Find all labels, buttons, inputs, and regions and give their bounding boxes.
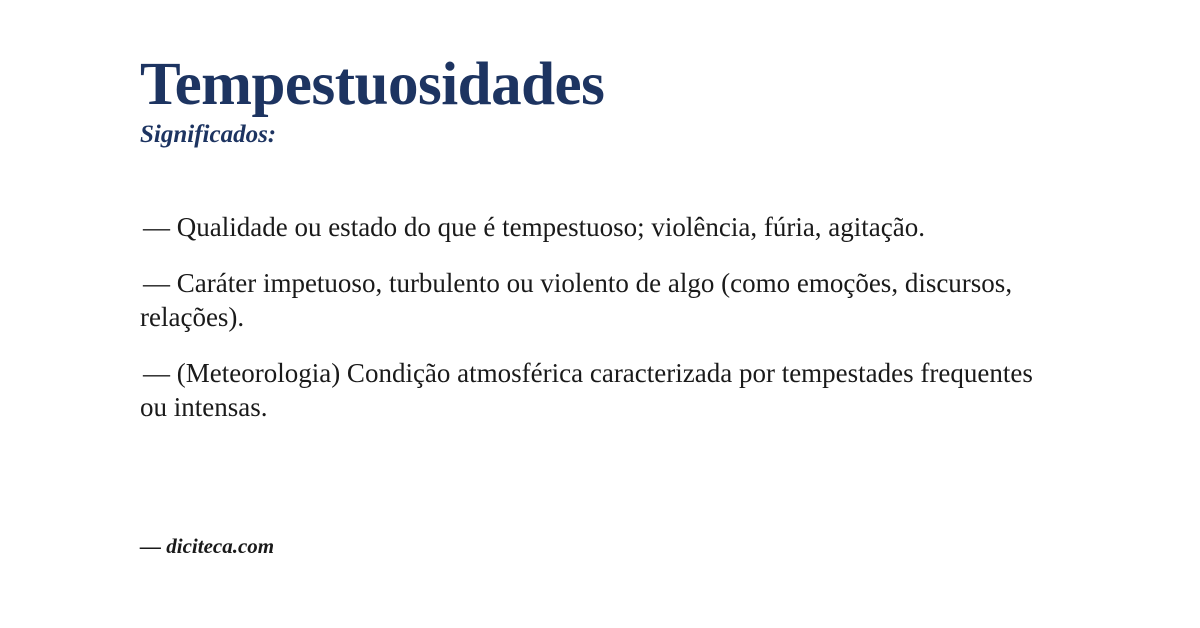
em-dash-marker: — — [143, 212, 170, 242]
definition-text: (Meteorologia) Condição atmosférica cara… — [140, 358, 1033, 422]
definition-item: — (Meteorologia) Condição atmosférica ca… — [140, 356, 1045, 424]
definition-text: Qualidade ou estado do que é tempestuoso… — [177, 212, 925, 242]
source-name: diciteca.com — [166, 534, 274, 558]
source-attribution: — diciteca.com — [140, 534, 274, 559]
em-dash-marker: — — [143, 358, 170, 388]
en-dash-marker: — — [140, 534, 161, 558]
definition-item: — Qualidade ou estado do que é tempestuo… — [140, 210, 1045, 244]
entry-subtitle: Significados: — [140, 121, 1100, 150]
dictionary-entry-card: Tempestuosidades Significados: — Qualida… — [0, 0, 1200, 628]
entry-footer: — diciteca.com — [140, 534, 274, 559]
definition-text: Caráter impetuoso, turbulento ou violent… — [140, 268, 1012, 332]
page-title: Tempestuosidades — [140, 54, 1100, 115]
em-dash-marker: — — [143, 268, 170, 298]
definition-item: — Caráter impetuoso, turbulento ou viole… — [140, 266, 1045, 334]
definitions-list: — Qualidade ou estado do que é tempestuo… — [140, 210, 1045, 424]
entry-header: Tempestuosidades Significados: — [140, 54, 1100, 150]
